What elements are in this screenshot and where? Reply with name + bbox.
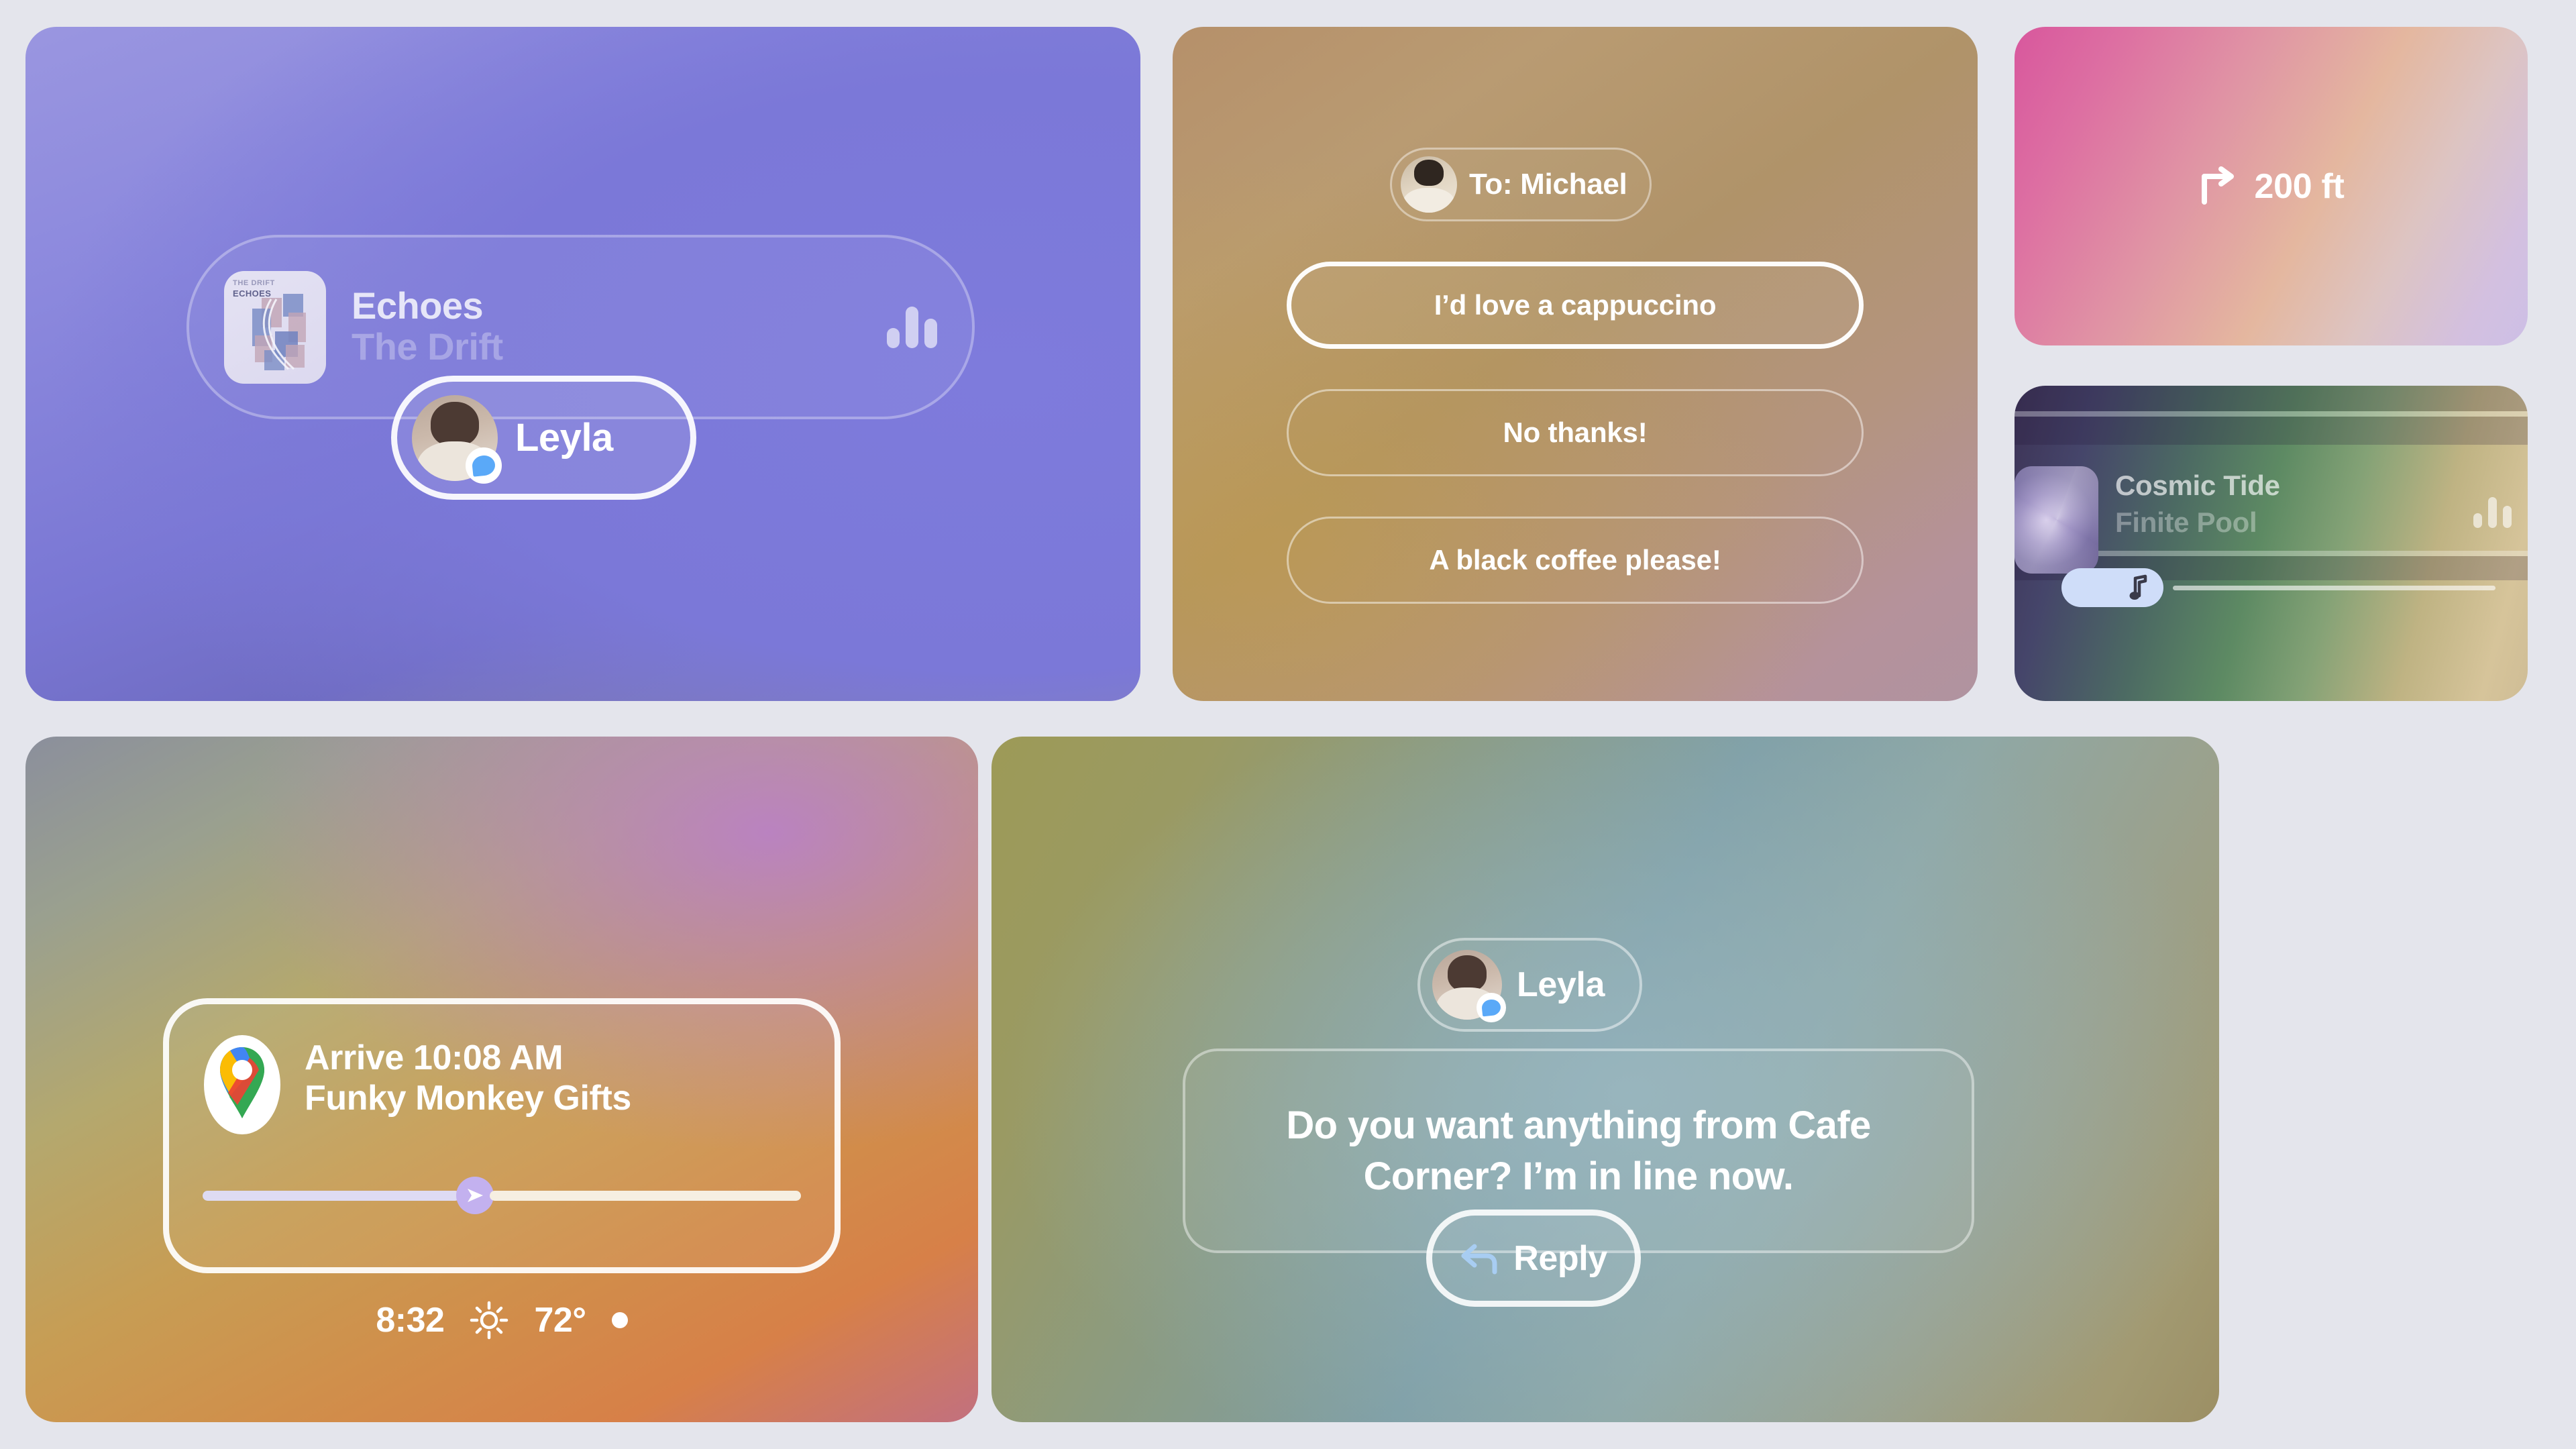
message-body: Do you want anything from Cafe Corner? I… <box>1185 1100 1972 1201</box>
messages-badge-icon <box>1477 993 1506 1022</box>
navigation-distance-panel[interactable]: 200 ft <box>2015 27 2528 345</box>
incoming-message-panel[interactable]: Leyla Do you want anything from Cafe Cor… <box>991 737 2219 1422</box>
track-artist: The Drift <box>352 326 887 368</box>
carplay-dashboard: THE DRIFT ECHOES Echoes The Drift <box>0 0 2576 1449</box>
contact-avatar <box>1432 950 1502 1020</box>
sun-icon <box>470 1301 508 1340</box>
reply-button[interactable]: Reply <box>1426 1210 1641 1307</box>
equalizer-bars-icon <box>2473 486 2512 528</box>
reply-option-0[interactable]: I’d love a cappuccino <box>1287 262 1864 349</box>
album-art-thumbnail: THE DRIFT ECHOES <box>224 271 326 384</box>
track-artist: Finite Pool <box>2115 506 2257 539</box>
status-bar: 8:32 72° <box>25 1300 978 1340</box>
reply-arrow-icon <box>1460 1241 1499 1276</box>
distance-label: 200 ft <box>2254 166 2344 207</box>
contact-name: Leyla <box>515 415 613 460</box>
arrival-panel[interactable]: Arrive 10:08 AM Funky Monkey Gifts 8:32 <box>25 737 978 1422</box>
recipient-avatar <box>1401 156 1457 213</box>
now-playing-panel[interactable]: THE DRIFT ECHOES Echoes The Drift <box>25 27 1140 701</box>
progress-fill <box>203 1191 460 1201</box>
arrival-card[interactable]: Arrive 10:08 AM Funky Monkey Gifts <box>163 998 841 1273</box>
contact-avatar <box>412 395 498 481</box>
scrubber-track[interactable] <box>2173 586 2495 590</box>
music-note-icon <box>2126 574 2149 601</box>
navigation-arrow-icon[interactable] <box>456 1177 494 1214</box>
reply-option-label: No thanks! <box>1503 417 1647 449</box>
track-metadata: Echoes The Drift <box>352 286 887 368</box>
album-art-swirl <box>2015 466 2098 574</box>
track-title: Cosmic Tide <box>2115 470 2280 502</box>
scrubber-thumb[interactable] <box>2061 568 2163 607</box>
recipient-pill: To: Michael <box>1390 148 1652 221</box>
google-maps-pin-icon <box>203 1035 282 1142</box>
message-sender-pill[interactable]: Leyla <box>1417 938 1642 1032</box>
arrival-time: Arrive 10:08 AM <box>305 1038 631 1078</box>
scrubber[interactable] <box>2061 568 2495 607</box>
messages-badge-icon <box>466 447 502 484</box>
reply-options-panel[interactable]: To: Michael I’d love a cappuccino No tha… <box>1173 27 1978 701</box>
route-progress[interactable] <box>203 1176 801 1215</box>
track-title: Echoes <box>352 286 887 326</box>
clock-label: 8:32 <box>376 1300 444 1340</box>
sender-name: Leyla <box>1517 965 1605 1005</box>
recipient-label: To: Michael <box>1469 168 1627 201</box>
navigation-instruction: 200 ft <box>2015 166 2528 207</box>
equalizer-bars-icon <box>887 307 937 348</box>
reply-option-label: I’d love a cappuccino <box>1434 289 1717 321</box>
contact-pill-leyla[interactable]: Leyla <box>391 376 696 500</box>
reply-option-2[interactable]: A black coffee please! <box>1287 517 1864 604</box>
temperature-label: 72° <box>534 1300 586 1340</box>
status-dot-icon <box>612 1312 628 1328</box>
destination-name: Funky Monkey Gifts <box>305 1078 631 1118</box>
turn-right-icon <box>2198 166 2239 207</box>
reply-option-label: A black coffee please! <box>1429 544 1721 576</box>
progress-remaining <box>490 1191 801 1201</box>
cosmic-tide-panel[interactable]: Cosmic Tide Finite Pool <box>2015 386 2528 701</box>
reply-option-1[interactable]: No thanks! <box>1287 389 1864 476</box>
reply-button-label: Reply <box>1513 1238 1607 1279</box>
